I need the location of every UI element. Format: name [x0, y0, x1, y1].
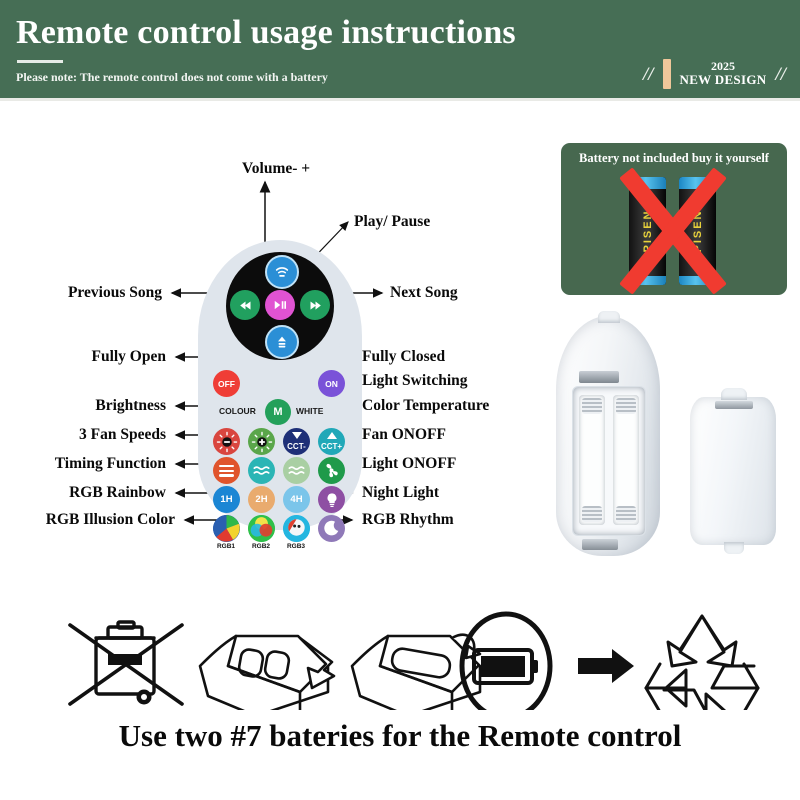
- callout-3-fan-speeds: 3 Fan Speeds: [79, 426, 166, 444]
- slash-right-icon: //: [775, 65, 786, 84]
- sun-minus-icon: [216, 431, 238, 453]
- brightness-down-button[interactable]: [213, 428, 240, 455]
- fan-icon: [321, 460, 342, 481]
- callout-next-song: Next Song: [390, 284, 458, 302]
- callout-light-onoff: Light ONOFF: [362, 455, 456, 473]
- callout-fan-onoff: Fan ONOFF: [362, 426, 446, 444]
- cover-tab: [721, 388, 747, 400]
- callout-rgb-rainbow: RGB Rainbow: [69, 484, 166, 502]
- timer-1h-button[interactable]: 1H: [213, 486, 240, 513]
- volume-down-icon: [274, 334, 290, 350]
- callout-rgb-illusion-color: RGB Illusion Color: [46, 511, 175, 529]
- fan-speed-2-icon: [252, 461, 271, 480]
- white-mode-label: WHITE: [296, 406, 323, 416]
- callout-timing-function: Timing Function: [55, 455, 166, 473]
- light-onoff-button[interactable]: [318, 486, 345, 513]
- rgb-rhythm-icon: [283, 515, 310, 542]
- colour-mode-label: COLOUR: [219, 406, 256, 416]
- fan-speed-high-button[interactable]: [213, 457, 240, 484]
- fan-onoff-button[interactable]: [318, 457, 345, 484]
- timer-2h-button[interactable]: 2H: [248, 486, 275, 513]
- remote-control-front: OFF ON COLOUR M WHITE: [198, 240, 362, 530]
- header-divider: [0, 98, 800, 101]
- cover-foot: [724, 542, 744, 554]
- instruction-sheet: Remote control usage instructions Please…: [0, 0, 800, 800]
- timer-4h-button[interactable]: 4H: [283, 486, 310, 513]
- fan-speed-low-button[interactable]: [283, 457, 310, 484]
- light-bulb-icon: [323, 491, 341, 509]
- page-title: Remote control usage instructions: [16, 14, 516, 52]
- rgb3-button[interactable]: [283, 515, 310, 542]
- battery-spring-bottom: [582, 506, 602, 522]
- badge-text: 2025 NEW DESIGN: [680, 60, 767, 88]
- callout-play-pause: Play/ Pause: [354, 213, 430, 231]
- battery-contact-top: [579, 371, 619, 383]
- media-control-disc: [226, 252, 334, 360]
- volume-down-button[interactable]: [265, 325, 299, 359]
- callout-volume: Volume- +: [242, 160, 310, 178]
- battery-spring-bottom: [616, 506, 636, 522]
- sun-plus-icon: [251, 431, 273, 453]
- title-rule: [17, 60, 63, 63]
- callout-color-temperature: Color Temperature: [362, 397, 489, 415]
- on-button-label: ON: [325, 379, 338, 389]
- timer-4h-label: 4H: [290, 494, 302, 505]
- cct-plus-button[interactable]: CCT+: [318, 428, 345, 455]
- cct-plus-label: CCT+: [318, 442, 345, 451]
- badge-accent-bar: [663, 59, 671, 89]
- battery-contact-bottom: [582, 539, 618, 550]
- rgb2-tag: RGB2: [244, 543, 278, 550]
- battery-slot-1: [579, 395, 605, 525]
- play-pause-button[interactable]: [265, 290, 295, 320]
- callout-fully-closed: Fully Closed: [362, 348, 445, 366]
- volume-up-button[interactable]: [265, 255, 299, 289]
- callout-night-light: Night Light: [362, 484, 439, 502]
- battery-in-oval-icon: [462, 614, 550, 710]
- volume-up-icon: [274, 264, 290, 280]
- battery-warning-box: Battery not included buy it yourself PIS…: [561, 143, 787, 295]
- header-note: Please note: The remote control does not…: [16, 70, 328, 85]
- slash-left-icon: //: [643, 65, 654, 84]
- cct-minus-label: CCT-: [283, 442, 310, 451]
- footer-icon-strip: [0, 600, 800, 710]
- off-button-label: OFF: [218, 379, 235, 389]
- mode-button-label: M: [273, 406, 282, 418]
- cct-up-icon: [327, 432, 337, 439]
- rgb3-tag: RGB3: [279, 543, 313, 550]
- rgb1-tag: RGB1: [209, 543, 243, 550]
- footer-instruction-text: Use two #7 bateries for the Remote contr…: [0, 718, 800, 754]
- previous-track-button[interactable]: [230, 290, 260, 320]
- brightness-up-button[interactable]: [248, 428, 275, 455]
- fully-open-off-button[interactable]: OFF: [213, 370, 240, 397]
- callout-brightness: Brightness: [95, 397, 166, 415]
- back-top-nub: [598, 311, 620, 323]
- badge-year: 2025: [711, 60, 735, 73]
- next-track-button[interactable]: [300, 290, 330, 320]
- previous-track-icon: [238, 298, 253, 313]
- play-pause-icon: [273, 298, 287, 312]
- night-light-button[interactable]: [318, 515, 345, 542]
- remote-control-back: [556, 316, 660, 556]
- cct-down-icon: [292, 432, 302, 439]
- light-switching-button[interactable]: M: [265, 399, 291, 425]
- moon-icon: [322, 519, 341, 538]
- cct-minus-button[interactable]: CCT-: [283, 428, 310, 455]
- battery-cover: [690, 397, 776, 545]
- page-header: Remote control usage instructions Please…: [0, 0, 800, 98]
- callout-previous-song: Previous Song: [68, 284, 162, 302]
- recycling-icon: [646, 616, 758, 710]
- callout-light-switching: Light Switching: [362, 372, 468, 390]
- fully-closed-on-button[interactable]: ON: [318, 370, 345, 397]
- timer-1h-label: 1H: [220, 494, 232, 505]
- crossed-out-wheelie-bin-icon: [70, 622, 182, 705]
- rgb-rainbow-icon: [213, 515, 240, 542]
- rgb1-button[interactable]: [213, 515, 240, 542]
- battery-spring-top: [616, 398, 636, 414]
- battery-insert-icon: [200, 636, 334, 710]
- red-cross-icon: [605, 171, 741, 291]
- rgb2-button[interactable]: [248, 515, 275, 542]
- rgb-illusion-icon: [248, 515, 275, 542]
- battery-compartment: [572, 386, 646, 536]
- new-design-badge: // 2025 NEW DESIGN //: [643, 58, 786, 90]
- callout-rgb-rhythm: RGB Rhythm: [362, 511, 454, 529]
- fan-speed-3-icon: [287, 461, 306, 480]
- arrow-right-icon: [578, 649, 634, 683]
- timer-2h-label: 2H: [255, 494, 267, 505]
- fan-speed-medium-button[interactable]: [248, 457, 275, 484]
- next-track-icon: [308, 298, 323, 313]
- callout-fully-open: Fully Open: [91, 348, 166, 366]
- battery-slot-2: [613, 395, 639, 525]
- badge-subtitle: NEW DESIGN: [680, 73, 767, 88]
- battery-warning-title: Battery not included buy it yourself: [561, 151, 787, 166]
- battery-spring-top: [582, 398, 602, 414]
- cover-clip: [715, 401, 753, 409]
